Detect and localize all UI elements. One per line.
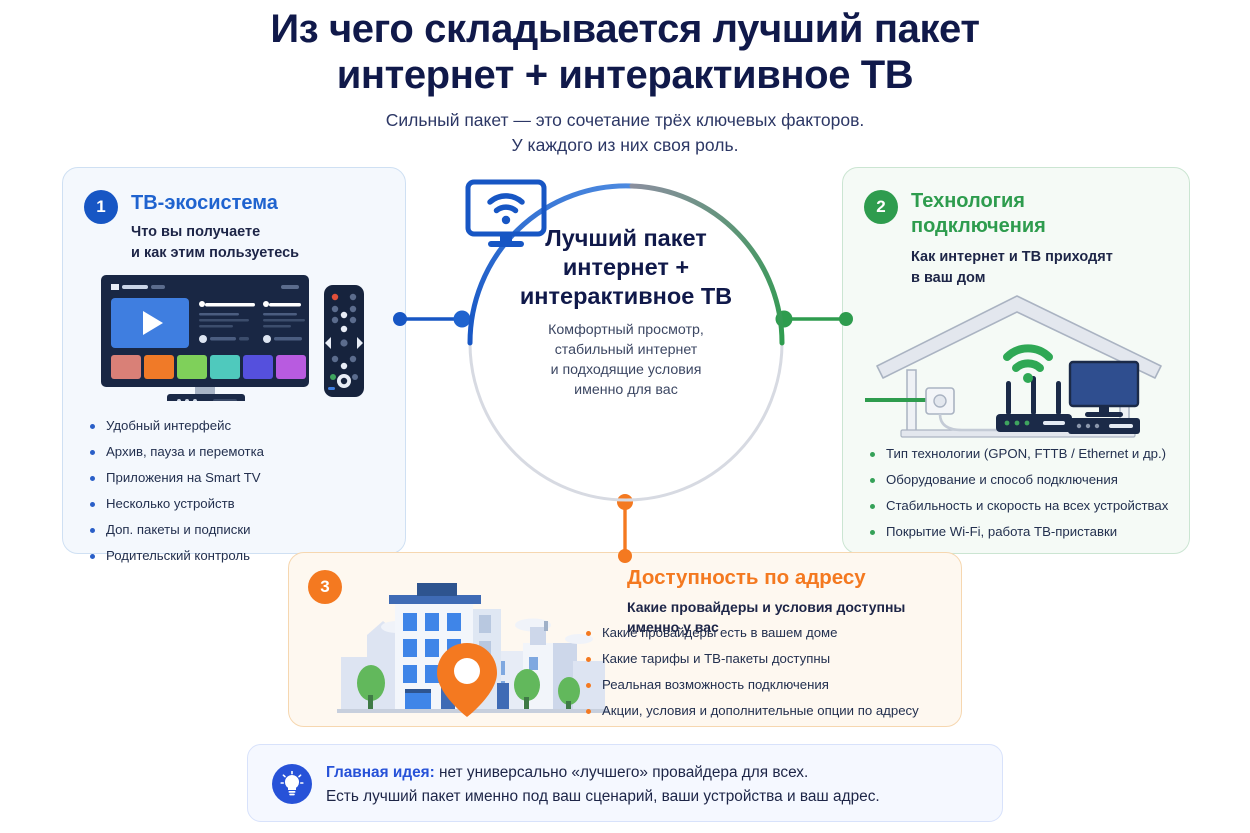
- hub-desc-line4: именно для вас: [574, 382, 678, 398]
- card-3-number: 3: [320, 577, 329, 597]
- card-2-lead-line1: Как интернет и ТВ приходят: [911, 249, 1113, 265]
- card-2-number-badge: 2: [864, 190, 898, 224]
- list-item: Доп. пакеты и подписки: [89, 522, 264, 538]
- key-idea-line1-rest: нет универсально «лучшего» провайдера дл…: [435, 764, 809, 781]
- list-item: Какие провайдеры есть в вашем доме: [585, 625, 919, 641]
- page-header: Из чего складывается лучший пакет интерн…: [0, 6, 1250, 158]
- key-idea-text: Главная идея: нет универсально «лучшего»…: [326, 761, 880, 809]
- card-2-title: Технология подключения: [911, 189, 1046, 239]
- key-idea-banner: Главная идея: нет универсально «лучшего»…: [247, 744, 1003, 822]
- list-item: Несколько устройств: [89, 496, 264, 512]
- hub-title-line1: Лучший пакет: [545, 225, 707, 251]
- center-hub: Лучший пакет интернет + интерактивное ТВ…: [462, 178, 790, 508]
- page-title-line2: интернет + интерактивное ТВ: [337, 53, 914, 97]
- city-buildings-map-pin-illustration: [337, 565, 609, 722]
- hub-desc-line3: и подходящие условия: [551, 362, 702, 378]
- list-item: Оборудование и способ подключения: [869, 472, 1168, 488]
- house-router-tv-illustration: [865, 290, 1171, 447]
- key-idea-line1: Главная идея: нет универсально «лучшего»…: [326, 761, 880, 785]
- lightbulb-icon: [272, 764, 312, 804]
- list-item: Приложения на Smart TV: [89, 470, 264, 486]
- card-2-bullet-list: Тип технологии (GPON, FTTB / Ethernet и …: [869, 446, 1168, 550]
- page-title-line1: Из чего складывается лучший пакет: [270, 7, 979, 51]
- card-2-lead: Как интернет и ТВ приходят в ваш дом: [911, 247, 1113, 288]
- hub-desc-line1: Комфортный просмотр,: [548, 322, 704, 338]
- list-item: Акции, условия и дополнительные опции по…: [585, 703, 919, 719]
- hub-title-line2: интернет +: [563, 254, 689, 280]
- hub-desc-line2: стабильный интернет: [555, 342, 698, 358]
- card-3-title: Доступность по адресу: [627, 565, 866, 591]
- card-1-number: 1: [96, 197, 105, 217]
- card-1-title: ТВ-экосистема: [131, 190, 278, 216]
- hub-description: Комфортный просмотр, стабильный интернет…: [548, 320, 704, 400]
- card-2-title-line1: Технология: [911, 190, 1025, 212]
- card-1-lead-line1: Что вы получаете: [131, 224, 260, 240]
- card-3-bullet-list: Какие провайдеры есть в вашем доме Какие…: [585, 625, 919, 729]
- page-title: Из чего складывается лучший пакет интерн…: [0, 6, 1250, 98]
- page-subtitle-line2: У каждого из них своя роль.: [512, 135, 739, 155]
- tv-with-remote-illustration: [95, 273, 380, 406]
- card-1-lead: Что вы получаете и как этим пользуетесь: [131, 222, 299, 263]
- hub-title: Лучший пакет интернет + интерактивное ТВ: [520, 224, 732, 311]
- card-connection-technology[interactable]: 2 Технология подключения Как интернет и …: [842, 167, 1190, 554]
- key-idea-line2: Есть лучший пакет именно под ваш сценари…: [326, 785, 880, 809]
- card-2-lead-line2: в ваш дом: [911, 270, 985, 286]
- list-item: Родительский контроль: [89, 548, 264, 564]
- key-idea-label: Главная идея:: [326, 764, 435, 781]
- card-2-number: 2: [876, 197, 885, 217]
- list-item: Какие тарифы и ТВ-пакеты доступны: [585, 651, 919, 667]
- list-item: Архив, пауза и перемотка: [89, 444, 264, 460]
- list-item: Покрытие Wi-Fi, работа ТВ-приставки: [869, 524, 1168, 540]
- card-1-bullet-list: Удобный интерфейс Архив, пауза и перемот…: [89, 418, 264, 574]
- card-1-number-badge: 1: [84, 190, 118, 224]
- page-subtitle-line1: Сильный пакет — это сочетание трёх ключе…: [386, 110, 865, 130]
- list-item: Тип технологии (GPON, FTTB / Ethernet и …: [869, 446, 1168, 462]
- list-item: Удобный интерфейс: [89, 418, 264, 434]
- card-address-availability[interactable]: 3: [288, 552, 962, 727]
- connector-left: [392, 308, 472, 335]
- card-tv-ecosystem[interactable]: 1 ТВ-экосистема Что вы получаете и как э…: [62, 167, 406, 554]
- list-item: Реальная возможность подключения: [585, 677, 919, 693]
- card-1-lead-line2: и как этим пользуетесь: [131, 245, 299, 261]
- card-2-title-line2: подключения: [911, 215, 1046, 237]
- page-subtitle: Сильный пакет — это сочетание трёх ключе…: [0, 108, 1250, 158]
- hub-title-line3: интерактивное ТВ: [520, 283, 732, 309]
- list-item: Стабильность и скорость на всех устройст…: [869, 498, 1168, 514]
- infographic-canvas: Из чего складывается лучший пакет интерн…: [0, 0, 1250, 833]
- hub-content: Лучший пакет интернет + интерактивное ТВ…: [462, 178, 790, 508]
